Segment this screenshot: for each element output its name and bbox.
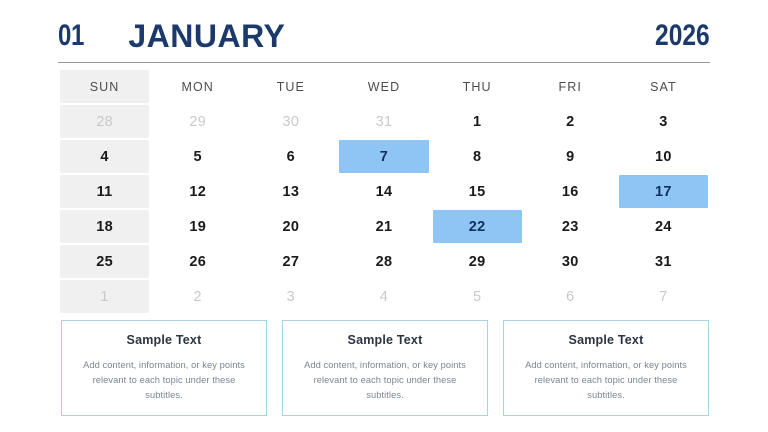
- weekday-header-label: TUE: [277, 80, 305, 94]
- day-number: 17: [655, 184, 672, 200]
- calendar-day-cell[interactable]: 23: [524, 209, 617, 244]
- weekday-header-thu: THU: [431, 69, 524, 104]
- day-number: 23: [562, 219, 579, 235]
- day-number: 20: [282, 219, 299, 235]
- day-number: 28: [96, 114, 113, 130]
- weekday-header-label: WED: [368, 80, 400, 94]
- day-number: 9: [566, 149, 574, 165]
- day-number: 3: [659, 114, 667, 130]
- calendar-weeks: 2829303112345678910111213141516171819202…: [58, 104, 710, 314]
- subtitle-box-title: Sample Text: [127, 333, 202, 347]
- calendar-day-cell[interactable]: 8: [431, 139, 524, 174]
- calendar-day-cell[interactable]: 14: [337, 174, 430, 209]
- calendar-day-cell[interactable]: 18: [58, 209, 151, 244]
- calendar-day-cell[interactable]: 1: [431, 104, 524, 139]
- calendar-day-cell[interactable]: 20: [244, 209, 337, 244]
- calendar-day-cell[interactable]: 27: [244, 244, 337, 279]
- calendar-day-cell[interactable]: 30: [524, 244, 617, 279]
- calendar-day-cell[interactable]: 28: [58, 104, 151, 139]
- calendar-day-cell[interactable]: 31: [617, 244, 710, 279]
- calendar-day-cell[interactable]: 6: [244, 139, 337, 174]
- subtitle-box-body: Add content, information, or key points …: [518, 358, 694, 403]
- subtitle-box[interactable]: Sample TextAdd content, information, or …: [61, 320, 267, 416]
- calendar-day-cell[interactable]: 15: [431, 174, 524, 209]
- day-number: 1: [473, 114, 481, 130]
- weekday-header-wed: WED: [337, 69, 430, 104]
- subtitle-box-body: Add content, information, or key points …: [297, 358, 473, 403]
- day-number: 30: [282, 114, 299, 130]
- calendar-day-cell[interactable]: 29: [431, 244, 524, 279]
- day-number: 4: [380, 289, 388, 305]
- calendar-week-row: 18192021222324: [58, 209, 710, 244]
- day-number: 10: [655, 149, 672, 165]
- weekday-header-label: THU: [463, 80, 492, 94]
- calendar-day-cell[interactable]: 9: [524, 139, 617, 174]
- calendar-page: 01 JANUARY 2026 SUNMONTUEWEDTHUFRISAT 28…: [0, 0, 768, 432]
- calendar-day-cell[interactable]: 12: [151, 174, 244, 209]
- day-number: 14: [376, 184, 393, 200]
- day-number: 29: [189, 114, 206, 130]
- day-number: 5: [194, 149, 202, 165]
- calendar-week-row: 28293031123: [58, 104, 710, 139]
- day-number: 5: [473, 289, 481, 305]
- calendar-day-cell[interactable]: 13: [244, 174, 337, 209]
- subtitle-boxes: Sample TextAdd content, information, or …: [61, 320, 709, 416]
- weekday-header-tue: TUE: [244, 69, 337, 104]
- calendar-day-cell[interactable]: 28: [337, 244, 430, 279]
- calendar-day-cell[interactable]: 3: [617, 104, 710, 139]
- weekday-header-label: FRI: [559, 80, 582, 94]
- day-number: 15: [469, 184, 486, 200]
- day-number: 7: [380, 149, 388, 165]
- subtitle-box-title: Sample Text: [348, 333, 423, 347]
- subtitle-box[interactable]: Sample TextAdd content, information, or …: [503, 320, 709, 416]
- day-number: 30: [562, 254, 579, 270]
- day-number: 6: [566, 289, 574, 305]
- subtitle-box-title: Sample Text: [569, 333, 644, 347]
- day-number: 13: [282, 184, 299, 200]
- calendar-day-cell[interactable]: 10: [617, 139, 710, 174]
- day-number: 6: [287, 149, 295, 165]
- calendar-day-cell[interactable]: 1: [58, 279, 151, 314]
- calendar-week-row: 1234567: [58, 279, 710, 314]
- calendar-week-row: 25262728293031: [58, 244, 710, 279]
- calendar-day-cell[interactable]: 5: [151, 139, 244, 174]
- day-number: 8: [473, 149, 481, 165]
- calendar-day-cell[interactable]: 22: [431, 209, 524, 244]
- calendar-day-cell[interactable]: 24: [617, 209, 710, 244]
- day-number: 21: [376, 219, 393, 235]
- calendar-grid: SUNMONTUEWEDTHUFRISAT 282930311234567891…: [58, 69, 710, 314]
- month-name: JANUARY: [128, 20, 285, 52]
- day-number: 26: [189, 254, 206, 270]
- calendar-day-cell[interactable]: 16: [524, 174, 617, 209]
- weekday-header-label: MON: [181, 80, 213, 94]
- weekday-header-fri: FRI: [524, 69, 617, 104]
- day-number: 4: [100, 149, 108, 165]
- weekday-header-label: SUN: [90, 80, 120, 94]
- day-number: 3: [287, 289, 295, 305]
- calendar-day-cell[interactable]: 21: [337, 209, 430, 244]
- month-number: 01: [58, 21, 84, 51]
- calendar-week-row: 11121314151617: [58, 174, 710, 209]
- day-number: 12: [189, 184, 206, 200]
- calendar-day-cell[interactable]: 30: [244, 104, 337, 139]
- calendar-day-cell[interactable]: 19: [151, 209, 244, 244]
- calendar-day-cell[interactable]: 2: [151, 279, 244, 314]
- calendar-day-cell[interactable]: 3: [244, 279, 337, 314]
- weekday-header-mon: MON: [151, 69, 244, 104]
- calendar-header: 01 JANUARY 2026: [58, 14, 710, 58]
- calendar-day-cell[interactable]: 17: [617, 174, 710, 209]
- day-number: 7: [659, 289, 667, 305]
- day-number: 11: [97, 184, 113, 200]
- day-number: 16: [562, 184, 579, 200]
- calendar-day-cell[interactable]: 31: [337, 104, 430, 139]
- day-number: 2: [194, 289, 202, 305]
- day-number: 29: [469, 254, 486, 270]
- calendar-day-cell[interactable]: 26: [151, 244, 244, 279]
- header-divider: [58, 62, 710, 63]
- weekday-header-sat: SAT: [617, 69, 710, 104]
- weekday-header-label: SAT: [650, 80, 677, 94]
- day-number: 22: [469, 219, 486, 235]
- day-number: 1: [100, 289, 108, 305]
- day-number: 18: [96, 219, 113, 235]
- day-number: 2: [566, 114, 574, 130]
- day-number: 31: [376, 114, 393, 130]
- day-number: 25: [96, 254, 113, 270]
- calendar-week-row: 45678910: [58, 139, 710, 174]
- calendar-day-cell[interactable]: 4: [337, 279, 430, 314]
- subtitle-box[interactable]: Sample TextAdd content, information, or …: [282, 320, 488, 416]
- weekday-header-row: SUNMONTUEWEDTHUFRISAT: [58, 69, 710, 104]
- subtitle-box-body: Add content, information, or key points …: [76, 358, 252, 403]
- weekday-header-sun: SUN: [58, 69, 151, 104]
- year-label: 2026: [655, 21, 710, 51]
- calendar-day-cell[interactable]: 11: [58, 174, 151, 209]
- calendar-day-cell[interactable]: 29: [151, 104, 244, 139]
- calendar-day-cell[interactable]: 5: [431, 279, 524, 314]
- day-number: 28: [376, 254, 393, 270]
- calendar-day-cell[interactable]: 6: [524, 279, 617, 314]
- calendar-day-cell[interactable]: 7: [617, 279, 710, 314]
- day-number: 24: [655, 219, 672, 235]
- calendar-day-cell[interactable]: 4: [58, 139, 151, 174]
- day-number: 31: [655, 254, 672, 270]
- calendar-day-cell[interactable]: 25: [58, 244, 151, 279]
- day-number: 27: [282, 254, 299, 270]
- calendar-day-cell[interactable]: 7: [337, 139, 430, 174]
- calendar-day-cell[interactable]: 2: [524, 104, 617, 139]
- day-number: 19: [189, 219, 206, 235]
